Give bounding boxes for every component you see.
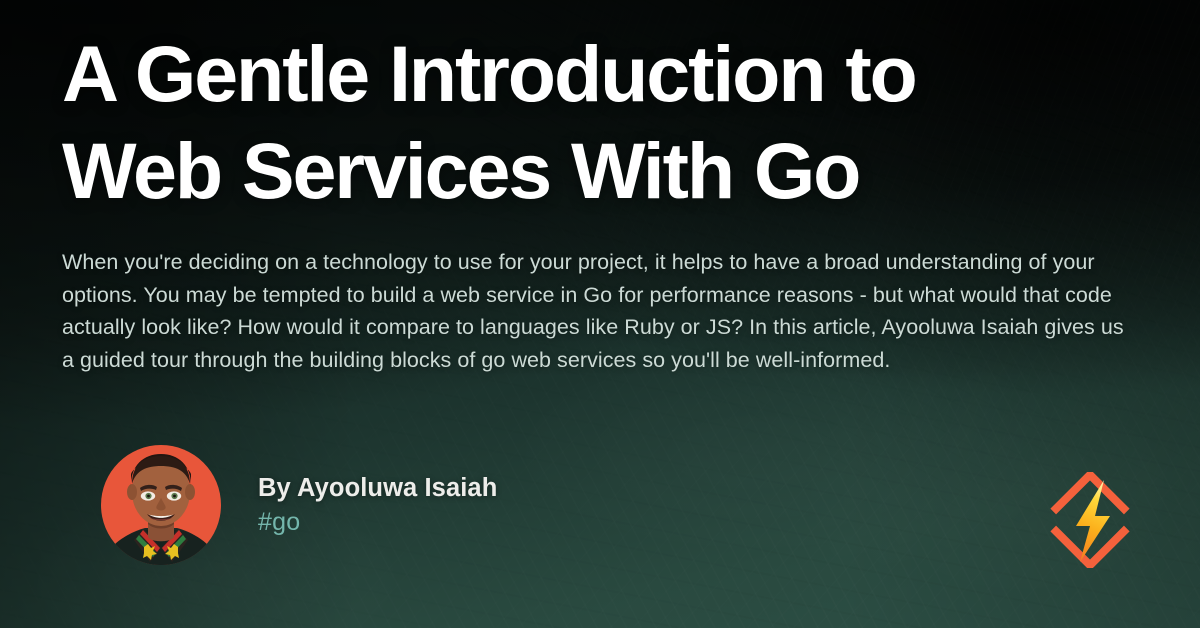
article-description: When you're deciding on a technology to … — [62, 246, 1140, 376]
article-tag[interactable]: #go — [258, 508, 497, 538]
avatar — [100, 444, 222, 566]
page-title-line-1: A Gentle Introduction to — [62, 34, 1072, 113]
author-byline-row: By Ayooluwa Isaiah #go — [100, 444, 497, 566]
article-banner-card: A Gentle Introduction to Web Services Wi… — [0, 0, 1200, 628]
author-text-block: By Ayooluwa Isaiah #go — [258, 473, 497, 538]
page-title-line-2: Web Services With Go — [62, 131, 1072, 210]
author-byline: By Ayooluwa Isaiah — [258, 473, 497, 503]
brand-logo[interactable] — [1042, 472, 1138, 568]
page-title: A Gentle Introduction to Web Services Wi… — [62, 34, 1072, 210]
